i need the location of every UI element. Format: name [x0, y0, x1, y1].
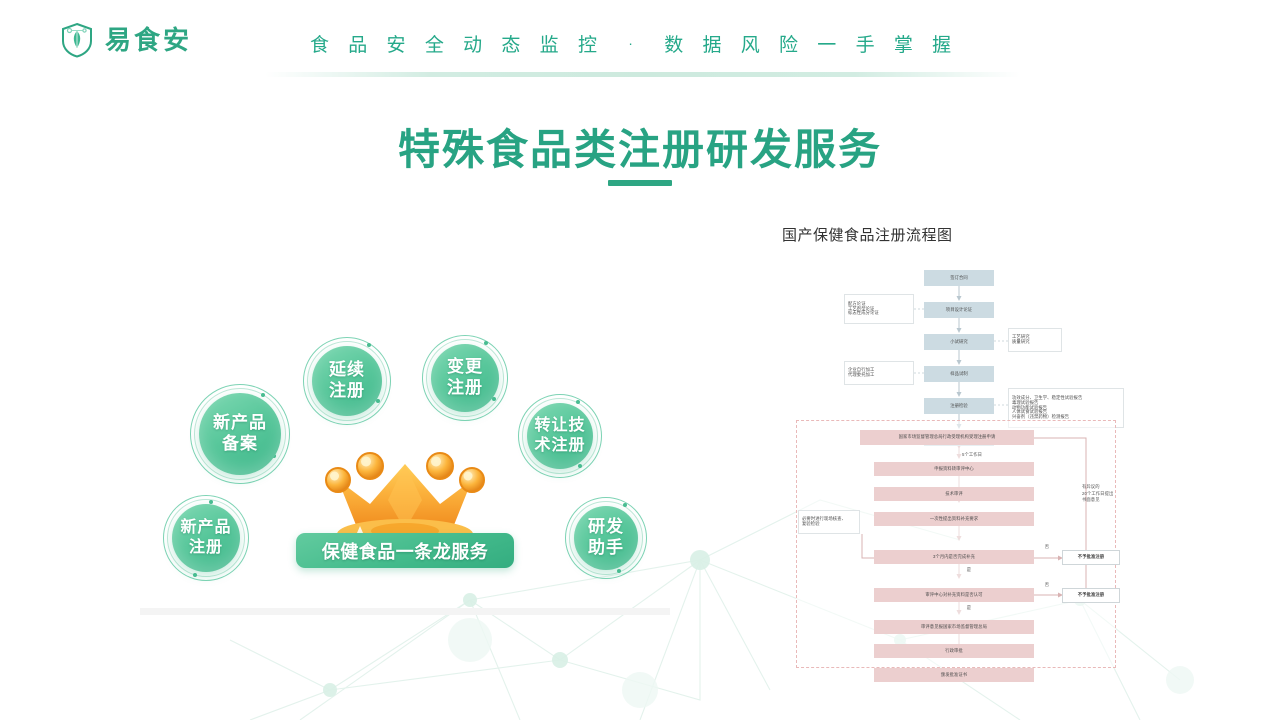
flow-review-4: 3个月内是否完成补充 — [874, 550, 1034, 564]
flow-review-3: 一次性提出资料补充要求 — [874, 512, 1034, 526]
bubble-label: 新产品 备案 — [213, 413, 267, 454]
bubble-label: 新产品 注册 — [180, 518, 231, 557]
bubble-node-dot — [623, 503, 627, 507]
bubble-new-product-registration[interactable]: 新产品 注册 — [163, 495, 249, 581]
bubble-node-dot — [578, 464, 582, 468]
flow-annot-5-working-days: 5个工作日 — [962, 450, 1002, 460]
bubble-core: 新产品 备案 — [199, 393, 281, 475]
flow-review-5: 审评中心对补充资料是否认可 — [874, 588, 1034, 602]
tagline-separator: · — [616, 35, 652, 51]
flow-review-1: 申报资料转审评中心 — [874, 462, 1034, 476]
note-line: 必要时进行现场核查、 复验检验 — [802, 517, 856, 527]
shield-leaf-icon — [60, 22, 94, 58]
flow-note-onsite-inspection: 必要时进行现场核查、 复验检验 — [798, 510, 860, 534]
title-underline — [608, 180, 672, 186]
bubble-new-product-filing[interactable]: 新产品 备案 — [190, 384, 290, 484]
bubble-node-dot — [193, 573, 197, 577]
bubble-core: 延续 注册 — [312, 346, 382, 416]
tagline-left: 食 品 安 全 动 态 监 控 — [310, 35, 604, 56]
header-tagline: 食 品 安 全 动 态 监 控 · 数 据 风 险 一 手 掌 握 — [310, 30, 990, 57]
flow-reject-box-2: 不予批准注册 — [1062, 588, 1120, 603]
flow-annot-yes-1: 是 — [964, 566, 974, 575]
flow-review-0: 国家市场监督管理总局行政受理机构受理注册申请 — [860, 430, 1034, 445]
flow-review-6: 审评意见报国家市场监督管理总局 — [874, 620, 1034, 634]
bubble-node-dot — [576, 400, 580, 404]
bubble-label: 延续 注册 — [329, 360, 365, 401]
bubble-label: 变更 注册 — [447, 357, 483, 398]
registration-flowchart: 签订合同 项目设计论证 小试研究 样品试制 注册检验 注册申报 配方论证 工艺剂… — [796, 262, 1126, 674]
flow-review-8: 颁发批准证书 — [874, 668, 1034, 682]
flow-annot-objection: 有异议的 20个工作日提出 书面意见 — [1082, 477, 1128, 511]
bubble-label: 研发 助手 — [588, 517, 624, 558]
center-service-banner[interactable]: 保健食品一条龙服务 — [296, 533, 514, 568]
annot-text: 有异议的 20个工作日提出 书面意见 — [1082, 484, 1113, 505]
bubble-core: 转让技 术注册 — [527, 403, 593, 469]
tagline-right: 数 据 风 险 一 手 掌 握 — [664, 35, 958, 56]
bubble-node-dot — [617, 569, 621, 573]
center-service-label: 保健食品一条龙服务 — [322, 538, 489, 564]
bubble-core: 新产品 注册 — [172, 504, 240, 572]
brand-logo[interactable]: 易食安 — [60, 22, 192, 58]
flowchart-title: 国产保健食品注册流程图 — [782, 224, 953, 245]
flow-reject-box-1: 不予批准注册 — [1062, 550, 1120, 565]
bubble-core: 研发 助手 — [574, 506, 638, 570]
flow-annot-yes-2: 是 — [964, 604, 974, 613]
page-title: 特殊食品类注册研发服务 — [0, 116, 1280, 177]
brand-name: 易食安 — [105, 27, 192, 53]
bubble-core: 变更 注册 — [431, 344, 499, 412]
bubble-renewal-registration[interactable]: 延续 注册 — [303, 337, 391, 425]
flow-review-2: 技术审评 — [874, 487, 1034, 501]
bubble-change-registration[interactable]: 变更 注册 — [422, 335, 508, 421]
site-header: 易食安 食 品 安 全 动 态 监 控 · 数 据 风 险 一 手 掌 握 — [0, 0, 1280, 82]
flow-annot-no-2: 否 — [1042, 581, 1052, 590]
bubble-node-dot — [367, 343, 371, 347]
flow-review-7: 行政审批 — [874, 644, 1034, 658]
bubble-rd-assistant[interactable]: 研发 助手 — [565, 497, 647, 579]
header-divider — [265, 72, 1020, 77]
bubble-transfer-tech-registration[interactable]: 转让技 术注册 — [518, 394, 602, 478]
bubble-node-dot — [484, 341, 488, 345]
flow-annot-no-1: 否 — [1042, 543, 1052, 552]
bubble-node-dot — [261, 393, 265, 397]
bubble-label: 转让技 术注册 — [534, 416, 585, 455]
